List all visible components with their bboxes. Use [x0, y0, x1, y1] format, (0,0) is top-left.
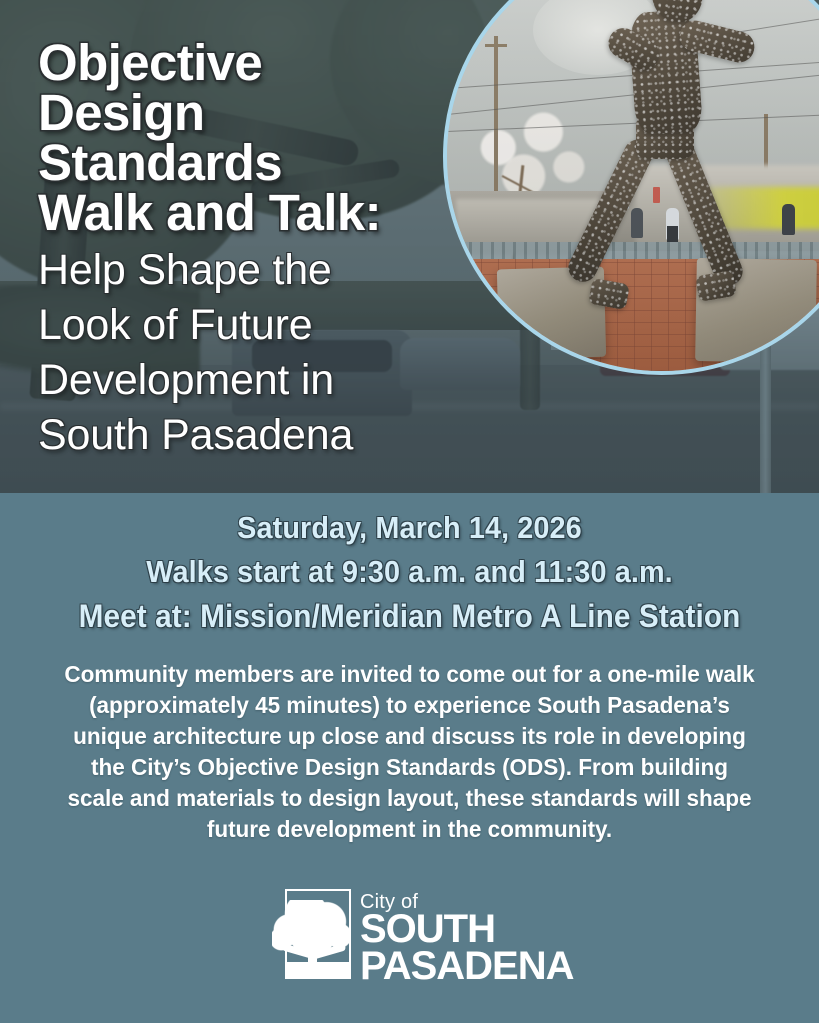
- event-details: Saturday, March 14, 2026 Walks start at …: [0, 506, 819, 638]
- title-line-1: Objective: [38, 38, 458, 88]
- headline-block: Objective Design Standards Walk and Talk…: [38, 38, 458, 458]
- title-line-3: Standards: [38, 138, 458, 188]
- oak-tree-icon: [270, 886, 354, 981]
- subtitle-line-2: Look of Future: [38, 303, 458, 348]
- circle-photo-inset: [443, 0, 819, 375]
- title-line-2: Design: [38, 88, 458, 138]
- event-date: Saturday, March 14, 2026: [29, 506, 791, 550]
- subtitle-line-3: Development in: [38, 358, 458, 403]
- title-line-4: Walk and Talk:: [38, 188, 458, 238]
- inset-gradient-overlay: [447, 0, 819, 371]
- event-location: Meet at: Mission/Meridian Metro A Line S…: [29, 594, 791, 638]
- tree-canopy: [272, 900, 350, 954]
- event-description: Community members are invited to come ou…: [62, 659, 756, 845]
- event-times: Walks start at 9:30 a.m. and 11:30 a.m.: [29, 550, 791, 594]
- logo-south: SOUTH: [360, 912, 574, 947]
- subtitle-line-1: Help Shape the: [38, 248, 458, 293]
- event-flyer: Objective Design Standards Walk and Talk…: [0, 0, 819, 1023]
- logo-wordmark: City of SOUTH PASADENA: [360, 886, 574, 985]
- info-panel: Saturday, March 14, 2026 Walks start at …: [0, 493, 819, 1023]
- subtitle-line-4: South Pasadena: [38, 413, 458, 458]
- logo-ground-band: [287, 962, 349, 979]
- city-logo: City of SOUTH PASADENA: [270, 886, 570, 981]
- logo-pasadena: PASADENA: [360, 947, 574, 985]
